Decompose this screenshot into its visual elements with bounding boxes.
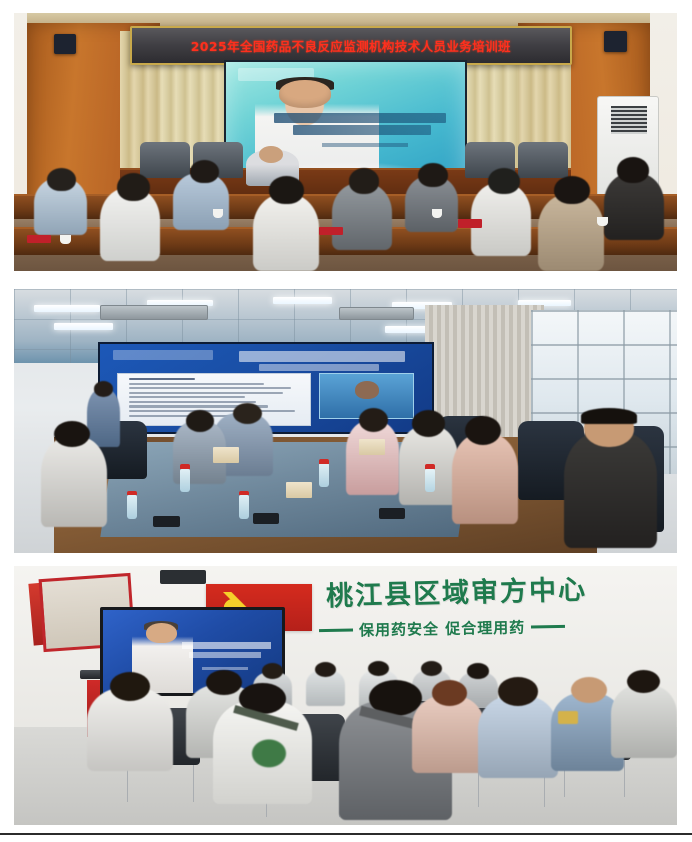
attendee-head (110, 672, 150, 700)
paper-cup (60, 235, 71, 244)
seated-person-head (54, 421, 90, 447)
slide-text-line (129, 415, 233, 417)
audience-person-head (349, 168, 379, 194)
stage-banner: 2025年全国药品不良反应监测机构技术人员业务培训班 (130, 26, 572, 65)
led-logo (113, 350, 212, 360)
photo-conference-hall-plenary: 2025年全国药品不良反应监测机构技术人员业务培训班 (14, 13, 677, 271)
conference-microphone (379, 508, 406, 519)
water-bottle (239, 495, 249, 519)
water-bottle-cap (180, 464, 190, 469)
ceiling-vent (100, 305, 208, 320)
conference-microphone (153, 516, 180, 527)
screen-subtitle (322, 143, 408, 147)
slide-text-line (129, 383, 264, 385)
stage-chair (518, 142, 568, 178)
stage-chair (140, 142, 190, 178)
attendee-head (571, 677, 607, 703)
uniform-badge-icon (558, 711, 578, 724)
audience-person (604, 173, 664, 240)
seated-person-head (359, 408, 388, 432)
wall-sign-dash-left (319, 628, 353, 632)
audience-person-head (117, 173, 150, 201)
ceiling-light (273, 297, 333, 304)
air-conditioner-vent (611, 106, 647, 134)
slide-text-line (129, 410, 294, 412)
water-bottle-cap (127, 491, 137, 496)
display-speaker-head (146, 623, 176, 643)
ceiling-light (54, 323, 114, 330)
chair-leg (127, 765, 128, 801)
slide-heading (129, 378, 194, 380)
attendee-head (498, 677, 538, 705)
standing-presenter (87, 389, 120, 447)
slide-text-line (129, 401, 256, 403)
photo-page: 2025年全国药品不良反应监测机构技术人员业务培训班 (0, 0, 692, 842)
attendee (611, 685, 677, 758)
wall-sign-dash-right (531, 625, 565, 629)
audience-person-head (418, 163, 447, 188)
water-bottle (180, 469, 190, 493)
screen-title-line-2 (293, 125, 431, 135)
stage-banner-text: 2025年全国药品不良反应监测机构技术人员业务培训班 (191, 36, 511, 55)
water-bottle-cap (239, 491, 249, 496)
display-title-line-2 (189, 652, 261, 658)
chair-leg (624, 760, 625, 796)
led-title-line-1 (239, 351, 405, 362)
attendee-head (262, 663, 283, 679)
water-bottle-cap (425, 464, 435, 469)
tissue-box (359, 439, 386, 455)
tissue-box (286, 482, 313, 498)
led-title-line-2 (259, 364, 378, 372)
wall-sign-title: 桃江县区域审方中心 (325, 568, 587, 614)
photo-boardroom-led-wall-session (14, 289, 677, 553)
attendee (412, 696, 485, 774)
attendee-head (421, 661, 442, 677)
audience-person-head (488, 168, 520, 194)
speaker-icon (54, 34, 77, 55)
water-bottle (425, 469, 435, 493)
tshirt-print (239, 737, 299, 778)
conference-microphone (253, 513, 280, 524)
desk-nameplate (458, 219, 482, 227)
seated-person (346, 421, 399, 495)
chair-leg (193, 765, 194, 801)
seated-person-head (233, 403, 262, 424)
speaker-icon (604, 31, 627, 52)
attendee-head (467, 663, 488, 679)
attendee (478, 696, 558, 779)
audience-person (253, 194, 319, 271)
attendee-head (368, 661, 389, 677)
audience-person-head (617, 157, 649, 183)
desk-nameplate (27, 235, 51, 243)
ceiling-vent (339, 307, 414, 320)
audience-person-head (269, 176, 303, 204)
projector-mount (160, 570, 206, 584)
audience-person-head (554, 176, 590, 204)
audience-person-head (47, 168, 76, 191)
audience-person-head (190, 160, 219, 183)
seated-person-head (412, 410, 445, 436)
ceiling-light (34, 305, 100, 312)
seated-person-foreground (564, 432, 657, 548)
display-title-line-1 (182, 642, 272, 649)
slide-text-line (129, 387, 291, 389)
tissue-box (213, 447, 240, 463)
photo-review-center-viewing-room: 桃江县区域审方中心 保用药安全 促合理用药 (14, 566, 677, 825)
screen-title-line-1 (274, 113, 446, 123)
pip-speaker-head (355, 381, 379, 398)
water-bottle (319, 463, 329, 487)
slide-panel (117, 373, 311, 426)
screen-speaker-head (279, 80, 332, 108)
audience-person (538, 194, 604, 271)
seated-person-head (186, 410, 214, 431)
wall-sign-subtitle-row: 保用药安全 促合理用药 (319, 616, 566, 641)
wall-sign-subtitle: 保用药安全 促合理用药 (359, 616, 526, 640)
water-bottle-cap (319, 459, 329, 464)
attendee-head (432, 680, 468, 706)
slide-text-line (129, 392, 283, 394)
desk-nameplate (319, 227, 343, 235)
seated-person-hair (581, 408, 637, 424)
seated-person (452, 434, 518, 524)
seated-person-head (465, 416, 501, 445)
paper-cup (597, 217, 608, 226)
slide-text-line (129, 396, 244, 398)
footer-rule (0, 833, 692, 835)
attendee-head (627, 670, 660, 693)
seated-person (41, 437, 107, 527)
paper-cup (432, 209, 443, 218)
stage-host-head (259, 146, 283, 163)
water-bottle (127, 495, 137, 519)
